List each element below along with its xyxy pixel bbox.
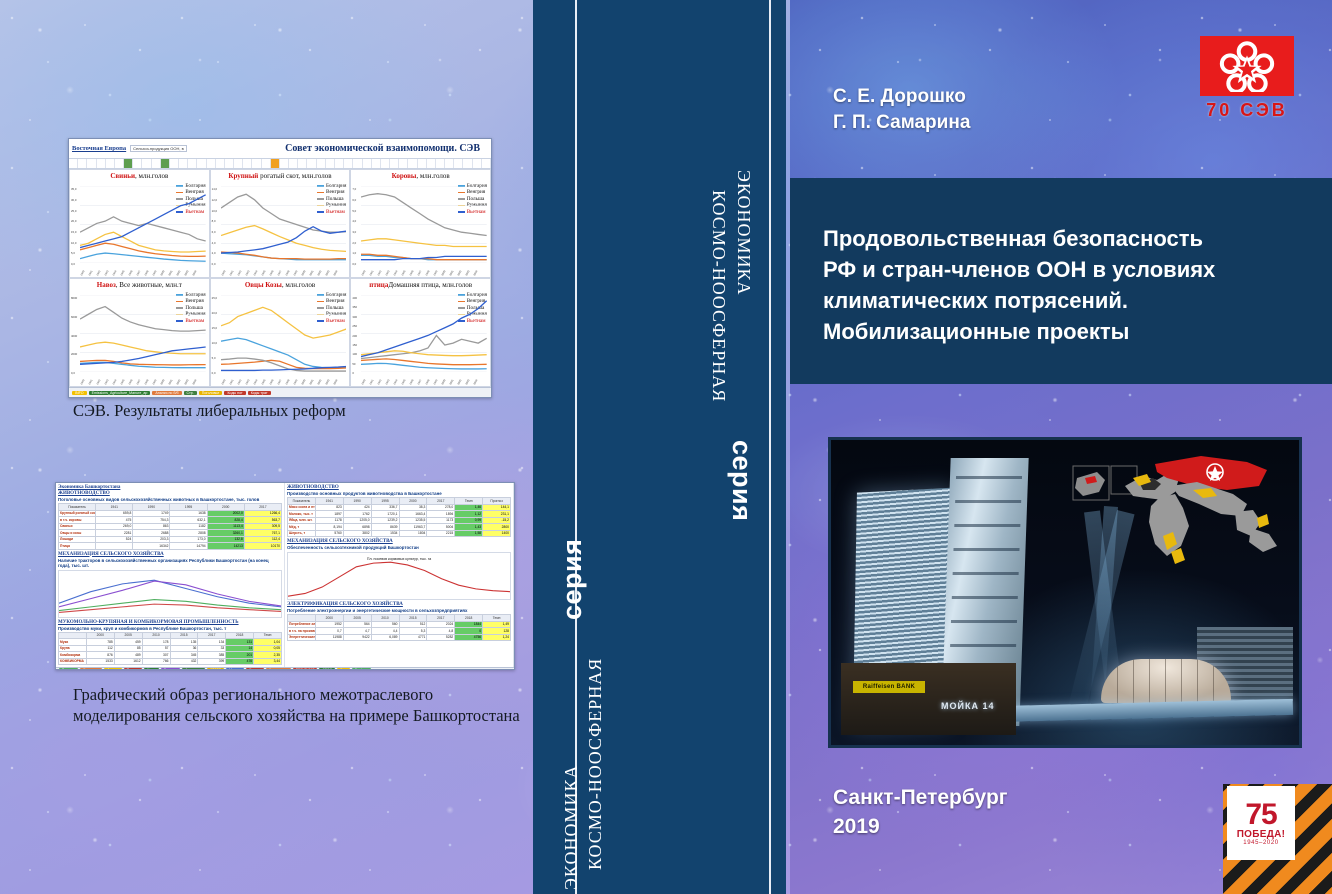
chart-x-axis: 1990199119921993199419951996199719981999… xyxy=(80,264,206,276)
chart-y-tick: 5,0 xyxy=(212,356,216,360)
sheet-title-livestock2: ЖИВОТНОВОДСТВО xyxy=(287,485,511,490)
publisher-block: Санкт-Петербург 2019 xyxy=(833,783,1008,841)
chart-y-tick: 50 xyxy=(352,362,355,366)
chart-panel-title: птицаДомашняя птица, млн.голов xyxy=(353,281,488,290)
table-cell: 16342 xyxy=(133,543,170,550)
chart-header-small: Сельхоз-продукция ООН, в xyxy=(130,145,187,152)
sheet-tab[interactable]: Поголовье xyxy=(199,391,223,395)
chart-y-tick: 25,0 xyxy=(212,296,217,300)
chart-plot-area xyxy=(361,186,487,263)
chart-y-tick: 15,0 xyxy=(71,230,76,234)
table-cell: 1534 xyxy=(371,530,399,537)
table-cell: 5760 xyxy=(315,530,343,537)
chart-panel-title: Свиньи, млн.голов xyxy=(72,172,207,181)
chart-y-tick: 5,0 xyxy=(352,209,356,213)
victory-word: ПОБЕДА! xyxy=(1237,829,1286,840)
authors-block: С. Е. Дорошко Г. П. Самарина xyxy=(833,84,970,136)
chart-y-tick: 6,0 xyxy=(212,230,216,234)
sheet-minichart-fodder: Пл. посевов кормовых культур, тыс. га xyxy=(287,552,511,600)
sheet-tab[interactable]: Итог xyxy=(337,668,350,670)
figure-bashkortostan-model: Экономика Башкортостана ЖИВОТНОВОДСТВО П… xyxy=(55,482,515,670)
sheet-tab[interactable]: Коды нот xyxy=(224,391,245,395)
chart-panel: птицаДомашняя птица, млн.головБолгарияВе… xyxy=(350,278,491,387)
victory-card: 75 ПОБЕДА! 1945–2020 xyxy=(1227,786,1295,860)
table-cell: 1804 xyxy=(399,530,427,537)
sheet-tab[interactable]: РЕЗУЛЬТАТ xyxy=(293,668,318,670)
chart-plot-area xyxy=(221,295,347,372)
chart-y-tick: 0,0 xyxy=(71,262,75,266)
chart-sheet-tabs[interactable]: INFOEmissions_Agriculture_Manure_apАнали… xyxy=(69,387,491,397)
table-cell: 4756 xyxy=(455,634,483,641)
glass-dome-pavilion xyxy=(1101,659,1231,703)
table-cell: 10170 xyxy=(244,543,281,550)
chart-panel-title: Крупный рогатый скот, млн.голов xyxy=(213,172,348,181)
chart-y-tick: 150 xyxy=(352,343,357,347)
chart-y-tick: 0 xyxy=(352,371,354,375)
sheet-column-left: Экономика Башкортостана ЖИВОТНОВОДСТВО П… xyxy=(56,483,285,667)
sheet-tab[interactable]: Модель xyxy=(226,668,244,670)
chart-y-tick: 12,0 xyxy=(212,198,217,202)
publisher-city: Санкт-Петербург xyxy=(833,783,1008,812)
comecon-flower-star-icon xyxy=(1218,40,1276,92)
table-cell: 11988 xyxy=(315,634,343,641)
table-row: КОМБИКОРМА153316127664323994763,44 xyxy=(59,658,282,665)
author-1: С. Е. Дорошко xyxy=(833,84,970,110)
title-line-3: климатических потрясений. xyxy=(823,285,1293,316)
sheet-tab[interactable]: Башкирия xyxy=(80,668,102,670)
table-cell: 14213 xyxy=(207,543,244,550)
chart-y-tick: 2,0 xyxy=(352,241,356,245)
chart-y-tick: 250 xyxy=(352,324,357,328)
victory-badge: 75 ПОБЕДА! 1945–2020 xyxy=(1223,784,1332,894)
chart-y-tick: 5,0 xyxy=(71,251,75,255)
sheet-title-mechanization: МЕХАНИЗАЦИЯ СЕЛЬСКОГО ХОЗЯЙСТВА xyxy=(58,552,282,557)
chart-header-left: Восточная Европа xyxy=(72,145,126,152)
chart-y-tick: 200 xyxy=(352,334,357,338)
chart-y-tick: 10,0 xyxy=(71,241,76,245)
chart-y-tick: 0,0 xyxy=(71,371,75,375)
sheet-tab[interactable]: Прогноз xyxy=(124,668,143,670)
sheet-tab[interactable]: Коды xyxy=(144,668,158,670)
chart-panel: Крупный рогатый скот, млн.головБолгарияВ… xyxy=(210,169,351,278)
table-row: Птица16342147941421310170 xyxy=(59,543,282,550)
sheet-subtitle-tractors: Наличие тракторов в сельскохозяйственных… xyxy=(58,558,282,568)
chart-x-axis: 1990199119921993199419951996199719981999… xyxy=(80,373,206,385)
chart-plot-area xyxy=(221,186,347,263)
world-map-icon xyxy=(1071,452,1283,580)
spine-series-name-left-1: КОСМО-НООСФЕРНАЯ xyxy=(585,658,606,870)
sheet-subtitle-output: Производство основных продуктов животнов… xyxy=(287,491,511,496)
chart-y-tick: 6000 xyxy=(71,315,77,319)
bank-sign: Raiffeisen BANK xyxy=(853,681,925,693)
chart-x-axis: 1990199119921993199419951996199719981999… xyxy=(361,264,487,276)
chart-y-tick: 2000 xyxy=(71,352,77,356)
sheet-tab[interactable]: Баланс xyxy=(246,668,264,670)
podium-base xyxy=(841,663,1016,735)
chart-y-tick: 14,0 xyxy=(212,187,217,191)
chart-y-tick: 20,0 xyxy=(71,219,76,223)
chart-y-tick: 4,0 xyxy=(352,219,356,223)
sheet-tab[interactable]: Анализ по б/б xyxy=(152,391,181,395)
chart-panel-title: Навоз, Все животные, млн.т xyxy=(72,281,207,290)
sheet-tab[interactable]: INFO xyxy=(72,391,87,395)
sheet-title-mechanization2: МЕХАНИЗАЦИЯ СЕЛЬСКОГО ХОЗЯЙСТВА xyxy=(287,539,511,544)
sheet-title-livestock: ЖИВОТНОВОДСТВО xyxy=(58,491,282,496)
chart-y-tick: 8,0 xyxy=(212,219,216,223)
table-cell: 3,44 xyxy=(254,658,282,665)
table-cell: 5282 xyxy=(427,634,455,641)
chart-y-tick: 350 xyxy=(352,305,357,309)
sev-badge: 70 СЭВ xyxy=(1200,36,1294,121)
chart-y-tick: 400 xyxy=(352,296,357,300)
book-spine: серия КОСМО-НООСФЕРНАЯ ЭКОНОМИКА серия К… xyxy=(533,0,786,894)
chart-y-tick: 2,0 xyxy=(212,251,216,255)
book-cover: Восточная Европа Сельхоз-продукция ООН, … xyxy=(0,0,1332,894)
chart-plot-area xyxy=(80,186,206,263)
sheet-minichart-tractors xyxy=(58,570,282,618)
sheet-tab[interactable]: Коды трат xyxy=(248,391,271,395)
table-cell: 432 xyxy=(170,658,198,665)
sheet-table-output: Показатель19411990199520002017ТемпПрогно… xyxy=(287,497,511,537)
sheet-subtitle-herd: Поголовье основных видов сельскохозяйств… xyxy=(58,497,282,502)
spine-rule-left xyxy=(575,0,577,894)
title-line-1: Продовольственная безопасность xyxy=(823,223,1293,254)
table-cell: 1400 xyxy=(483,530,511,537)
sheet-table-power: 200020052010201520172018ТемпПотребление … xyxy=(287,614,511,641)
chart-y-tick: 300 xyxy=(352,315,357,319)
table-cell: 6,089 xyxy=(371,634,399,641)
table-cell xyxy=(96,543,133,550)
sheet-title-electrification: ЭЛЕКТРИФИКАЦИЯ СЕЛЬСКОГО ХОЗЯЙСТВА xyxy=(287,602,511,607)
chart-y-tick: 3,0 xyxy=(352,230,356,234)
back-cover: Восточная Европа Сельхоз-продукция ООН, … xyxy=(0,0,533,894)
title-line-4: Мобилизационные проекты xyxy=(823,316,1293,347)
sheet-title-economy: Экономика Башкортостана xyxy=(58,485,282,490)
table-cell: Энергетические мощности, всего, тыс. л.с… xyxy=(288,634,316,641)
table-cell: 3802 xyxy=(343,530,371,537)
cover-photo: Raiffeisen BANK МОЙКА 14 xyxy=(828,437,1302,748)
chart-y-tick: 7,0 xyxy=(352,187,356,191)
chart-y-tick: 15,0 xyxy=(212,326,217,330)
chart-y-tick: 4000 xyxy=(71,334,77,338)
chart-y-tick: 35,0 xyxy=(71,187,76,191)
sheet-tab[interactable]: Аналитика xyxy=(182,668,205,670)
chart-panel: Свиньи, млн.головБолгарияВенгрияПольшаРу… xyxy=(69,169,210,278)
sheet-tab[interactable]: ИТОГО xyxy=(207,668,224,670)
chart-y-tick: 30,0 xyxy=(71,198,76,202)
table-cell: 1533 xyxy=(86,658,114,665)
book-title: Продовольственная безопасность РФ и стра… xyxy=(823,223,1293,347)
street-sign: МОЙКА 14 xyxy=(941,701,994,711)
chart-panel: Навоз, Все животные, млн.тБолгарияВенгри… xyxy=(69,278,210,387)
chart-y-tick: 10,0 xyxy=(212,341,217,345)
table-cell: 14794 xyxy=(170,543,207,550)
sev-flag xyxy=(1200,36,1294,96)
sheet-tabs[interactable]: РегионыБашкирияАнализПрогнозКодыОтраслиА… xyxy=(56,667,514,670)
spine-rule-right xyxy=(769,0,771,894)
chart-y-tick: 25,0 xyxy=(71,209,76,213)
spine-series-name-left-2: ЭКОНОМИКА xyxy=(561,765,582,890)
sheet-tab[interactable]: Графики xyxy=(352,668,371,670)
table-cell: 399 xyxy=(198,658,226,665)
chart-y-tick: 6,0 xyxy=(352,198,356,202)
chart-panel-title: Овцы Козы, млн.голов xyxy=(213,281,348,290)
chart-panel: Овцы Козы, млн.головБолгарияВенгрияПольш… xyxy=(210,278,351,387)
chart-sheet-band xyxy=(69,159,491,169)
title-block: Продовольственная безопасность РФ и стра… xyxy=(790,178,1332,384)
sheet-tab[interactable]: Отрасли xyxy=(161,668,181,670)
chart-x-axis: 1990199119921993199419951996199719981999… xyxy=(221,373,347,385)
sheet-title-milling: МУКОМОЛЬНО-КРУПЯНАЯ И КОМБИКОРМОВАЯ ПРОМ… xyxy=(58,620,282,625)
figure2-caption: Графический образ регионального межотрас… xyxy=(73,684,523,726)
title-line-2: РФ и стран-членов ООН в условиях xyxy=(823,254,1293,285)
table-cell: 4771 xyxy=(399,634,427,641)
sheet-subtitle-equipment: Обеспеченность сельхозтехникой продукций… xyxy=(287,545,511,550)
chart-x-axis: 1990199119921993199419951996199719981999… xyxy=(221,264,347,276)
sheet-tab[interactable]: СВОД xyxy=(319,668,334,670)
spine-series-word-right: серия xyxy=(726,440,757,521)
sheet-table-flour: 200020052010201520172018ТемпМука78545917… xyxy=(58,632,282,666)
table-row: Энергетические мощности, всего, тыс. л.с… xyxy=(288,634,511,641)
chart-y-tick: 0,0 xyxy=(352,262,356,266)
table-cell: Птица xyxy=(59,543,96,550)
publisher-year: 2019 xyxy=(833,812,1008,841)
chart-y-tick: 0,0 xyxy=(212,371,216,375)
table-cell: 9422 xyxy=(343,634,371,641)
sheet-tab[interactable]: Emissions_Agriculture_Manure_ap xyxy=(89,391,151,395)
chart-header-title: Совет экономической взаимопомощи. СЭВ xyxy=(285,143,480,154)
victory-years: 1945–2020 xyxy=(1243,840,1278,846)
chart-panel-grid: Свиньи, млн.головБолгарияВенгрияПольшаРу… xyxy=(69,169,491,387)
sheet-column-right: ЖИВОТНОВОДСТВО Производство основных про… xyxy=(285,483,514,667)
chart-y-tick: 0,0 xyxy=(212,262,216,266)
chart-y-tick: 8000 xyxy=(71,296,77,300)
chart-y-tick: 100 xyxy=(352,352,357,356)
sev-label: 70 СЭВ xyxy=(1200,100,1294,121)
chart-y-tick: 1,0 xyxy=(352,251,356,255)
sheet-subtitle-flour: Производство муки, круп и комбикормов в … xyxy=(58,626,282,631)
figure1-caption: СЭВ. Результаты либеральных реформ xyxy=(73,400,513,421)
figure-comecon-charts: Восточная Европа Сельхоз-продукция ООН, … xyxy=(68,138,492,398)
table-cell: 1,58 xyxy=(455,530,483,537)
table-cell: 476 xyxy=(226,658,254,665)
chart-sheet-header: Восточная Европа Сельхоз-продукция ООН, … xyxy=(69,139,491,159)
author-2: Г. П. Самарина xyxy=(833,110,970,136)
sheet-tab[interactable]: Регионы xyxy=(59,668,78,670)
chart-panel: Коровы, млн.головБолгарияВенгрияПольшаРу… xyxy=(350,169,491,278)
table-cell: 1,24 xyxy=(483,634,511,641)
table-row: Шерсть, т576038021534180422151,581400 xyxy=(288,530,511,537)
chart-x-axis: 1990199119921993199419951996199719981999… xyxy=(361,373,487,385)
chart-panel-title: Коровы, млн.голов xyxy=(353,172,488,181)
chart-y-tick: 10,0 xyxy=(212,209,217,213)
table-cell: 1612 xyxy=(114,658,142,665)
sheet-tab[interactable]: Корреляция xyxy=(266,668,291,670)
chart-plot-area xyxy=(361,295,487,372)
chart-y-tick: 20,0 xyxy=(212,311,217,315)
chart-y-tick: 4,0 xyxy=(212,241,216,245)
victory-number: 75 xyxy=(1245,801,1276,829)
chart-plot-area xyxy=(80,295,206,372)
table-cell: 766 xyxy=(142,658,170,665)
table-cell: 2215 xyxy=(427,530,455,537)
sheet-tab[interactable]: Стр. xyxy=(184,391,197,395)
sheet-table-herd: Показатель19411990199520002017Крупный ро… xyxy=(58,503,282,550)
sheet-tab[interactable]: Анализ xyxy=(104,668,121,670)
table-cell: Шерсть, т xyxy=(288,530,316,537)
spine-series-name-right-2: ЭКОНОМИКА xyxy=(733,170,754,295)
table-cell: КОМБИКОРМА xyxy=(59,658,87,665)
spine-series-name-right-1: КОСМО-НООСФЕРНАЯ xyxy=(708,190,729,402)
spine-series-word-left: серия xyxy=(557,539,588,620)
sheet-subtitle-power: Потребление электроэнергии и энергетичес… xyxy=(287,608,511,613)
